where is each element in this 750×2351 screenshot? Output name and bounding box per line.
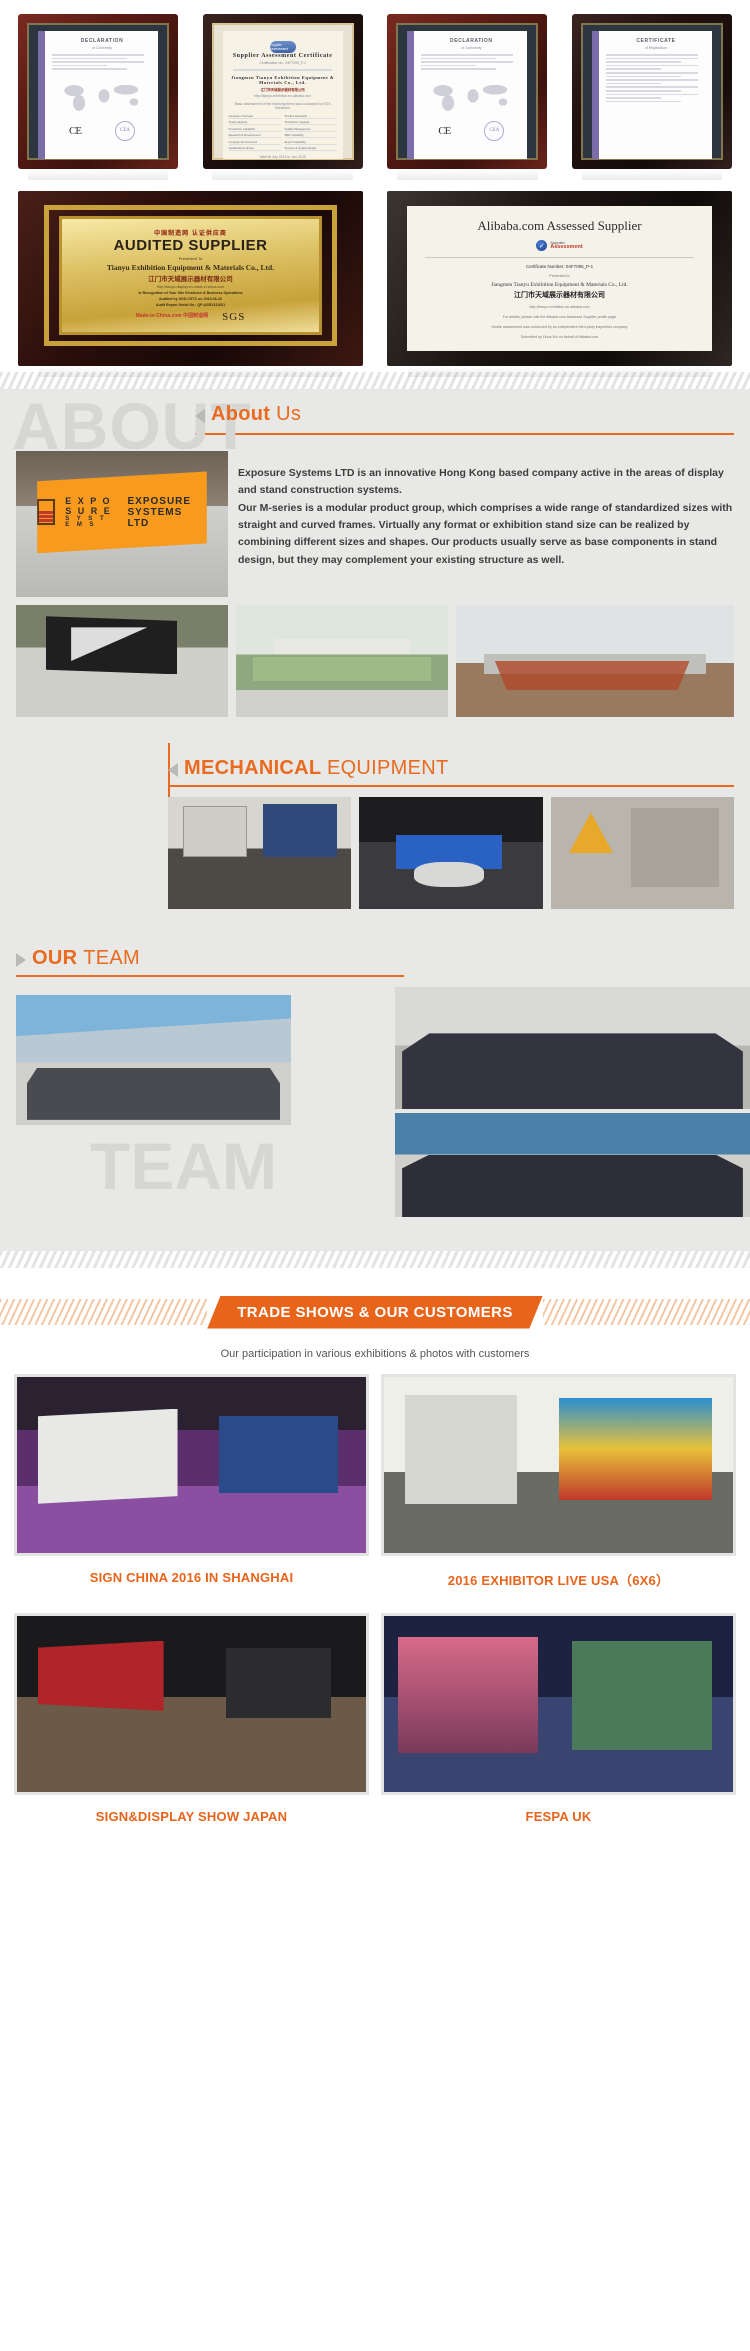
certificate-paper: DECLARATION of Conformity CE CEA <box>407 31 527 159</box>
plaque-title: AUDITED SUPPLIER <box>114 237 268 254</box>
alibaba-company-cn: 江门市天域展示器材有限公司 <box>425 290 694 300</box>
certificate-number: Certification No.: 04F7095_P-1 <box>229 61 337 65</box>
ce-mark: CE <box>69 125 81 137</box>
trade-shows-banner: TRADE SHOWS & OUR CUSTOMERS <box>0 1294 750 1330</box>
plaque-cn-heading: 中国制造网 认证供应商 <box>154 228 227 237</box>
certificate-paper: CERTIFICATE of Registration <box>592 31 712 159</box>
sgs-logo: SGS <box>222 311 245 323</box>
show-caption: SIGN CHINA 2016 IN SHANGHAI <box>14 1556 369 1603</box>
mechanical-header: MECHANICAL EQUIPMENT <box>0 743 750 787</box>
about-title: About Us <box>211 403 301 425</box>
office-logo-text: E X P O S U R E <box>65 496 117 516</box>
certificates-row-top: DECLARATION of Conformity CE CEA <box>0 14 750 169</box>
plaque-presented-to: Presented To <box>179 256 203 261</box>
cnc-machine-photo[interactable] <box>168 797 351 909</box>
certificate-title: Supplier Assessment Certificate <box>229 53 337 59</box>
team-header: OUR TEAM <box>0 933 420 977</box>
certificate-paper: DECLARATION of Conformity CE CEA <box>38 31 158 159</box>
plaque-company: Tianyu Exhibition Equipment & Materials … <box>107 263 274 272</box>
certificates-section: DECLARATION of Conformity CE CEA <box>0 0 750 372</box>
alibaba-company: Jiangmen Tianyu Exhibition Equipment & M… <box>425 282 694 288</box>
trade-shows-section: TRADE SHOWS & OUR CUSTOMERS Our particip… <box>0 1294 750 1858</box>
supplier-assessment-certificate[interactable]: Supplier Assessment Supplier Assessment … <box>203 14 363 169</box>
alibaba-cert-number: Certificate Number: 04F7095_P-1 <box>425 264 694 269</box>
certificate-subtitle: of Conformity <box>421 46 521 50</box>
team-gallery <box>0 987 750 1217</box>
world-map-graphic <box>52 73 152 117</box>
signature: Signature <box>425 349 694 351</box>
team-group-outdoor-photo[interactable] <box>16 995 291 1125</box>
show-caption: 2016 EXHIBITOR LIVE USA（6X6） <box>381 1556 736 1607</box>
audited-supplier-plaque[interactable]: 中国制造网 认证供应商 AUDITED SUPPLIER Presented T… <box>18 191 363 366</box>
frame-reflection <box>397 169 538 180</box>
banner-hatch-left <box>0 1299 207 1325</box>
certificate-sheet: Alibaba.com Assessed Supplier Supplier A… <box>407 206 712 351</box>
show-fespa-uk[interactable] <box>381 1613 736 1795</box>
iso-declaration-certificate[interactable]: DECLARATION of Conformity CE CEA <box>387 14 547 169</box>
frame-reflection <box>582 169 723 180</box>
team-header-row: OUR TEAM <box>16 933 404 975</box>
show-sign-display-japan[interactable] <box>14 1613 369 1795</box>
triangle-right-icon <box>16 953 26 967</box>
triangle-left-icon <box>195 409 205 423</box>
plaque-audited-by: Audited by SGS-CSTC on 2013-06-26 <box>159 297 222 301</box>
alibaba-url: http://tianyu-exhibition.en.alibaba.com <box>425 304 694 310</box>
paper-side-bar <box>407 31 414 159</box>
team-title: OUR TEAM <box>32 947 140 969</box>
about-description: Exposure Systems LTD is an innovative Ho… <box>238 451 734 597</box>
alibaba-title: Alibaba.com Assessed Supplier <box>425 218 694 234</box>
alibaba-note-1: For details, please visit the Alibaba.co… <box>425 314 694 320</box>
exposure-logo-icon <box>37 499 55 525</box>
certificate-title: DECLARATION <box>52 38 152 44</box>
frame-reflection <box>212 169 353 180</box>
certificate-title: CERTIFICATE <box>606 38 706 44</box>
plaque-reflection <box>408 366 712 377</box>
certificate-company-cn: 江门市天域展示器材有限公司 <box>229 87 337 92</box>
plaque-url: http://tianyu-display.en.made-in-china.c… <box>157 285 224 289</box>
trade-show-item: 2016 EXHIBITOR LIVE USA（6X6） <box>381 1374 736 1613</box>
world-map-graphic <box>421 73 521 117</box>
plaque-logos: Made-in-China.com 中国制造网 SGS <box>136 311 246 323</box>
about-header-row: About Us <box>195 389 734 431</box>
team-section: TEAM OUR TEAM <box>0 933 750 1227</box>
certificates-row-bottom: 中国制造网 认证供应商 AUDITED SUPPLIER Presented T… <box>0 169 750 366</box>
assessment-badge-icon: Supplier Assessment <box>270 41 296 53</box>
mechanical-header-row: MECHANICAL EQUIPMENT <box>168 743 734 785</box>
ce-declaration-certificate[interactable]: DECLARATION of Conformity CE CEA <box>18 14 178 169</box>
trade-show-item: SIGN&DISPLAY SHOW JAPAN <box>14 1613 369 1848</box>
certificate-url: http://tianyu-exhibition.en.alibaba.com <box>229 94 337 98</box>
company-profile-page: DECLARATION of Conformity CE CEA <box>0 0 750 1858</box>
exposure-systems-office-photo[interactable]: E X P O S U R E S Y S T E M S EXPOSURE S… <box>16 451 228 597</box>
alibaba-note-2: Onsite assessment was conducted by an in… <box>425 324 694 330</box>
press-machine-photo[interactable] <box>551 797 734 909</box>
exhibition-booth-photo[interactable] <box>16 605 228 717</box>
triangle-left-icon <box>168 763 178 777</box>
made-in-china-logo: Made-in-China.com 中国制造网 <box>136 314 209 320</box>
certificate-seal: CEA <box>115 121 135 141</box>
certificate-date: Valid till July 2014 to Jun, 2015 <box>229 155 337 159</box>
office-logo-sub: S Y S T E M S <box>65 516 117 528</box>
about-body: E X P O S U R E S Y S T E M S EXPOSURE S… <box>0 435 750 597</box>
lathe-machine-photo[interactable] <box>359 797 542 909</box>
certificate-body-lines <box>421 54 521 70</box>
supplier-assessment-badge: Supplier Assessment <box>229 41 337 53</box>
badge-line2: Assessment <box>550 245 582 251</box>
about-section: ABOUT About Us E X P O S U R E S Y S T E… <box>0 389 750 1251</box>
paper-side-bar <box>592 31 599 159</box>
team-underline <box>16 975 404 977</box>
alibaba-assessed-supplier-certificate[interactable]: Alibaba.com Assessed Supplier Supplier A… <box>387 191 732 366</box>
alibaba-note-3: Submitted by Lihua Wu on behalf of Aliba… <box>425 334 694 340</box>
certificate-footer: CE CEA <box>52 121 152 141</box>
supplier-assessment-badge: Supplier Assessment <box>425 240 694 251</box>
certificate-title: DECLARATION <box>421 38 521 44</box>
meeting-room-photo[interactable] <box>456 605 734 717</box>
fourth-certificate[interactable]: CERTIFICATE of Registration <box>572 14 732 169</box>
certificate-body-lines <box>606 54 706 102</box>
certificate-seal: CEA <box>484 121 504 141</box>
about-paragraph-1: Exposure Systems LTD is an innovative Ho… <box>238 465 734 500</box>
mechanical-gallery <box>0 787 750 909</box>
paper-side-bar <box>38 31 45 159</box>
about-paragraph-2: Our M-series is a modular product group,… <box>238 500 734 569</box>
mechanical-underline <box>168 785 734 787</box>
mechanical-title: MECHANICAL EQUIPMENT <box>184 757 449 779</box>
show-caption: SIGN&DISPLAY SHOW JAPAN <box>14 1795 369 1842</box>
frame-reflection <box>28 169 169 180</box>
divider <box>425 257 694 258</box>
assessment-checklist: Company OverviewProduct Research Trade C… <box>229 114 337 152</box>
show-sign-china-2016[interactable] <box>14 1374 369 1556</box>
check-badge-icon <box>536 240 547 251</box>
certificate-footer: CE CEA <box>421 121 521 141</box>
alibaba-presented-to: Presented to <box>425 273 694 279</box>
show-exhibitor-live-usa[interactable] <box>381 1374 736 1556</box>
plaque-inner-plate: 中国制造网 认证供应商 AUDITED SUPPLIER Presented T… <box>59 216 322 335</box>
office-workstations-photo[interactable] <box>236 605 448 717</box>
certificate-note: Basic assessment of the following items … <box>229 102 337 110</box>
trade-show-item: SIGN CHINA 2016 IN SHANGHAI <box>14 1374 369 1613</box>
trade-shows-banner-title: TRADE SHOWS & OUR CUSTOMERS <box>207 1296 543 1329</box>
show-caption: FESPA UK <box>381 1795 736 1842</box>
trade-shows-grid: SIGN CHINA 2016 IN SHANGHAI 2016 EXHIBIT… <box>0 1360 750 1848</box>
ce-mark: CE <box>438 125 450 137</box>
plaque-recognition: In Recognition of Your Site Existence & … <box>138 291 242 295</box>
plaque-reflection <box>39 366 343 377</box>
plaque-report-number: Audit Report Serial No.: QP-ASR1311001 <box>156 303 225 307</box>
banner-hatch-right <box>543 1299 750 1325</box>
certificate-subtitle: of Conformity <box>52 46 152 50</box>
trade-show-item: FESPA UK <box>381 1613 736 1848</box>
team-tradeshow-photo[interactable] <box>395 1113 750 1217</box>
team-exhibition-booth-photo[interactable] <box>395 987 750 1109</box>
certificate-company: Jiangmen Tianyu Exhibition Equipment & M… <box>229 75 337 85</box>
plaque-company-cn: 江门市天域展示器材有限公司 <box>148 273 233 283</box>
trade-shows-subtitle: Our participation in various exhibitions… <box>0 1348 750 1360</box>
certificate-body-lines <box>52 54 152 70</box>
office-banner: E X P O S U R E S Y S T E M S EXPOSURE S… <box>37 471 207 553</box>
plaque-gold-frame: 中国制造网 认证供应商 AUDITED SUPPLIER Presented T… <box>44 205 337 346</box>
certificate-paper: Supplier Assessment Supplier Assessment … <box>223 31 343 159</box>
hatch-divider-bottom <box>0 1251 750 1268</box>
certificate-subtitle: of Registration <box>606 46 706 50</box>
office-sign-text: EXPOSURE SYSTEMS LTD <box>127 496 206 529</box>
about-gallery <box>0 597 750 717</box>
